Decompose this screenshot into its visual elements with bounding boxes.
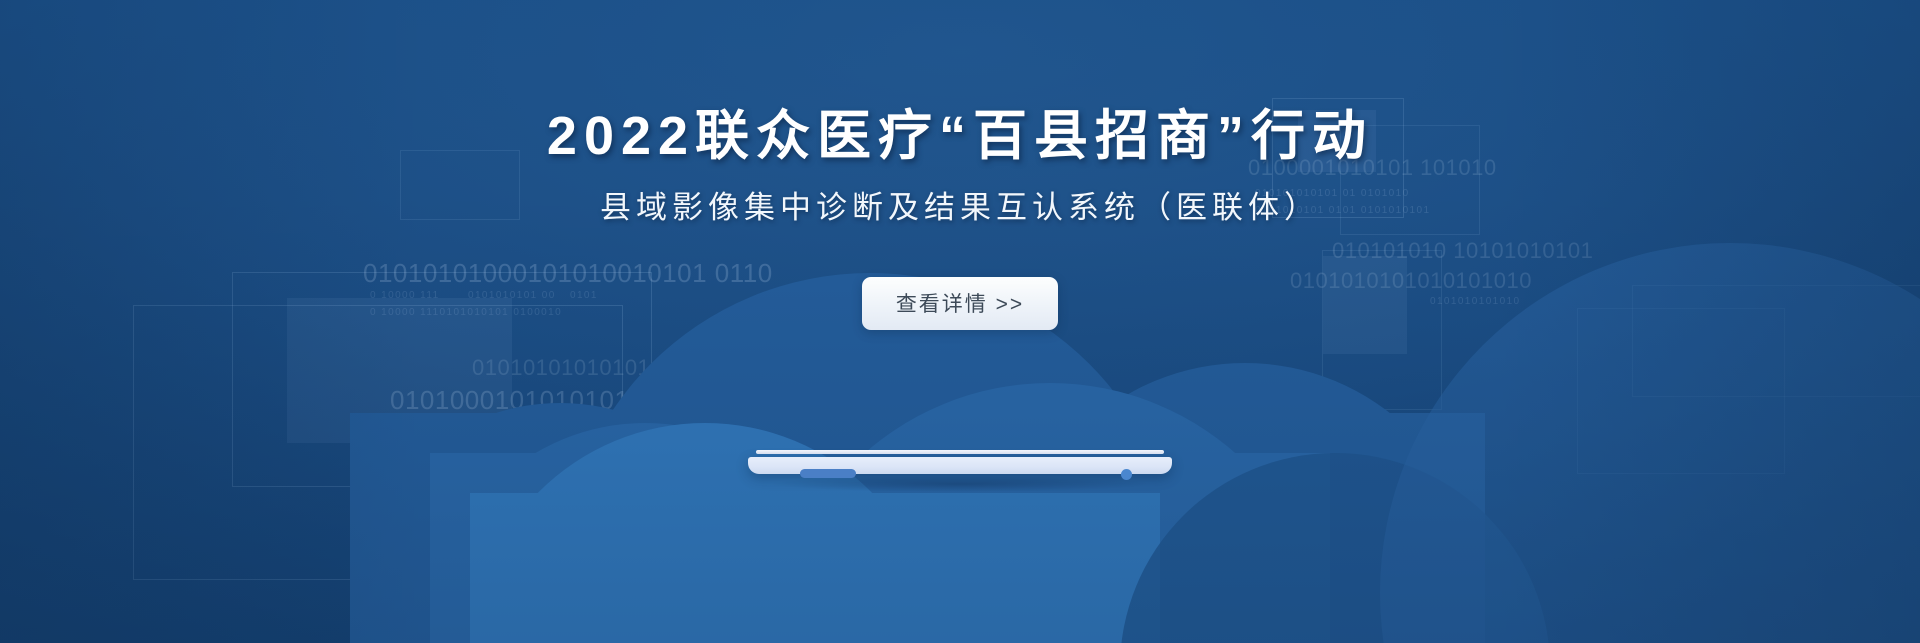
banner-title: 2022联众医疗“百县招商”行动 [547,108,1373,165]
banner-subtitle: 县域影像集中诊断及结果互认系统（医联体） [600,191,1320,225]
speaker-pill-icon [800,469,856,478]
device-screen-edge [756,450,1164,454]
tablet-device-base [748,450,1172,476]
cta-container: 查看详情 >> [862,277,1058,330]
power-dot-icon [1121,469,1132,480]
promo-banner: 01010101000101010010101 0110 0 10000 111… [0,0,1920,643]
banner-content: 2022联众医疗“百县招商”行动 县域影像集中诊断及结果互认系统（医联体） 查看… [0,0,1920,643]
device-body [748,457,1172,474]
view-details-button[interactable]: 查看详情 >> [862,277,1058,330]
device-shadow [770,476,1150,492]
